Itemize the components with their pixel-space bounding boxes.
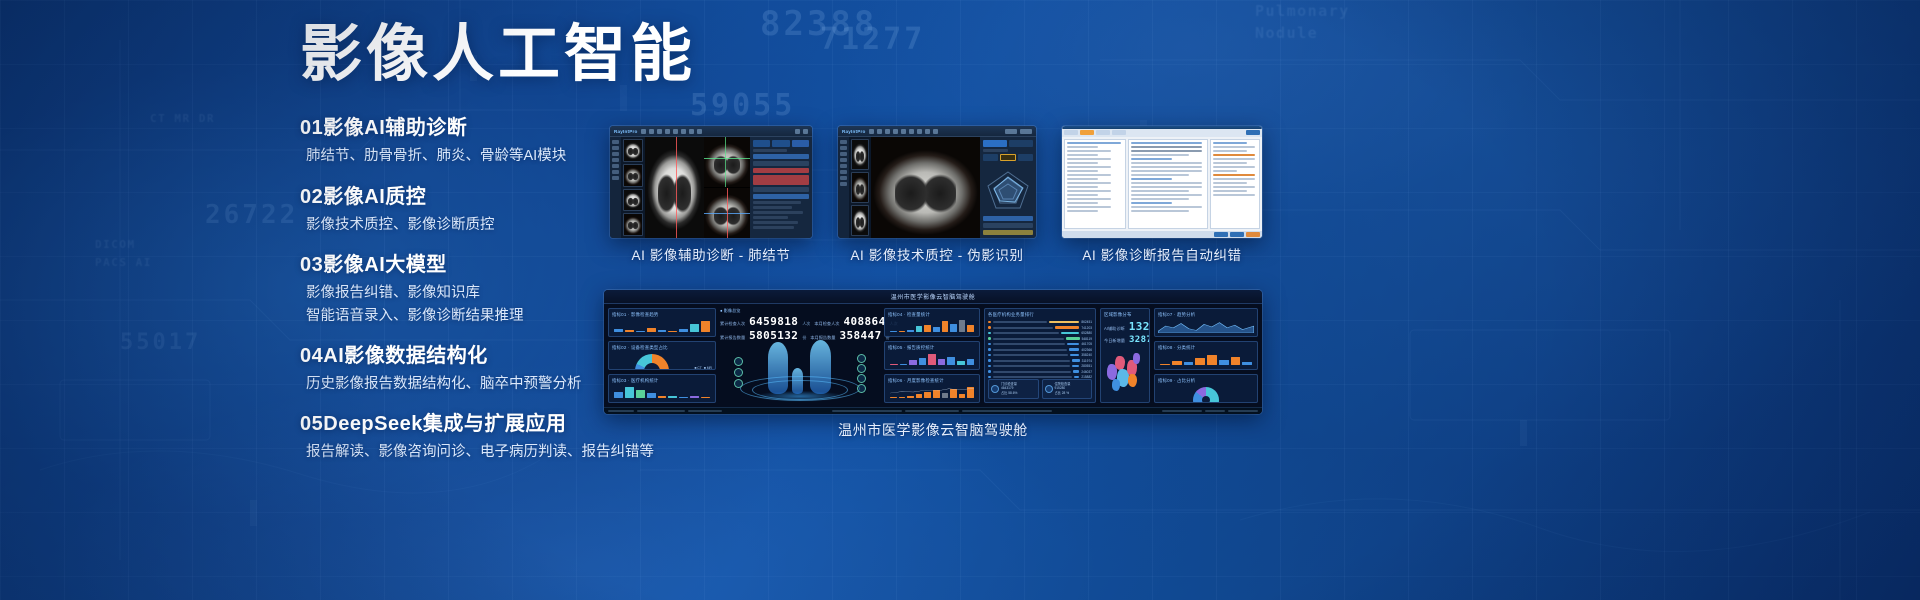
card-title: 指标01 · 影像检查趋势 [612,312,712,318]
toolbar-icon[interactable] [665,129,670,134]
toolbar-icon[interactable] [925,129,930,134]
card-title: 各医疗机构业务量排行 [988,312,1092,318]
rail-icon[interactable] [840,146,847,150]
rail-icon[interactable] [612,152,619,156]
panel-tab[interactable] [1009,140,1033,147]
bar-chart [888,320,976,333]
card-title: 指标04 · 检查量统计 [888,312,976,318]
list-item[interactable]: 862451 [988,320,1092,324]
screenshot-caption-ai-qc: AI 影像技术质控 - 伪影识别 [838,244,1036,264]
finding-row[interactable] [753,194,809,199]
list-item[interactable]: 311974 [988,359,1092,363]
dashboard-mid-column: 指标04 · 检查量统计 [884,308,980,403]
kpi-value: 13261534 [1129,320,1150,333]
left-tool-rail[interactable] [610,137,621,238]
dashboard-list-column: 各医疗机构业务量排行 862451 741203 [984,308,1096,403]
kpi-label: AI辅助诊断 [1104,326,1125,332]
bar-chart [888,353,976,366]
logout-icon[interactable] [1020,129,1032,134]
page-title: 影像人工智能 [300,22,770,87]
toolbar-icon[interactable] [909,129,914,134]
pod-sub: 占比 58.6% [1001,391,1017,395]
body-part-hotspot[interactable] [857,364,866,373]
kpi-label: 今日新增量 [1104,338,1125,344]
toolbar-icon[interactable] [877,129,882,134]
card-monthly[interactable]: 指标06 · 月度影像检查统计 [884,374,980,403]
inpatient-icon [1045,385,1053,393]
screenshot-imaging-cloud-dashboard[interactable]: 温州市医学影像云智脑驾驶舱 指标01 · 影像检查趋势 [604,290,1262,414]
rail-icon[interactable] [612,140,619,144]
area-chart [1158,320,1254,333]
background-word-2: Nodule [1255,24,1318,42]
card-title: 指标07 · 趋势分析 [1158,312,1254,318]
finding-row-alert[interactable] [753,168,809,173]
list-item[interactable]: 652880 [988,331,1092,335]
app-brand-label: RayIntPro [614,129,638,134]
ct-viewport-main[interactable] [871,137,980,238]
kpi-label: 本月检查人次 [814,321,839,327]
dashboard-header: 温州市医学影像云智脑驾驶舱 [604,290,1262,304]
panel-tab-active[interactable] [983,140,1007,147]
stat-pod-group: 门诊检查量 4643179 占比 58.6% 住院检查量 915280 [988,379,1092,399]
series-thumbnail[interactable] [851,205,869,236]
card-exam-trend[interactable]: 指标01 · 影像检查趋势 [608,308,716,337]
qc-result-row-warn[interactable] [983,230,1033,235]
bar-chart [612,320,712,333]
card-report-quality[interactable]: 指标05 · 报告质控统计 [884,341,980,370]
rail-icon[interactable] [840,170,847,174]
ai-findings-panel[interactable] [750,137,812,238]
left-tool-rail[interactable] [838,137,849,238]
tab[interactable] [1096,130,1110,135]
body-part-hotspot[interactable] [857,384,866,393]
app-brand-label: RayIntPro [842,129,866,134]
dashboard-footer [604,407,1262,414]
series-thumbnail-strip[interactable] [849,137,871,238]
close-icon[interactable] [803,129,808,134]
region-map[interactable] [1104,346,1146,399]
dashboard-right-column: 指标07 · 趋势分析 指标08 · 分类统计 [1154,308,1258,403]
kpi-value: 358447 [839,329,881,342]
rail-icon[interactable] [840,158,847,162]
list-item[interactable]: 280551 [988,364,1092,368]
score-button-selected[interactable] [1000,154,1017,161]
rail-icon[interactable] [840,164,847,168]
ct-viewport-sagittal[interactable] [704,188,750,238]
card-bar-right[interactable]: 指标08 · 分类统计 [1154,341,1258,370]
kpi-block: ● 影像总览 累计检查人次 6459818 人次 本月检查人次 408864 人… [720,308,880,343]
series-thumbnail[interactable] [851,172,869,203]
toolbar-icon[interactable] [657,129,662,134]
bar-chart [612,386,712,399]
qc-result-row[interactable] [983,223,1033,228]
stat-pod[interactable]: 门诊检查量 4643179 占比 58.6% [988,379,1039,399]
card-hospital-rank[interactable]: 指标03 · 医疗机构统计 [608,374,716,403]
series-thumbnail-strip[interactable] [621,137,645,238]
rail-icon[interactable] [840,182,847,186]
body-part-hotspot[interactable] [734,357,743,366]
rail-icon[interactable] [612,170,619,174]
body-part-hotspot[interactable] [857,354,866,363]
list-item[interactable]: 741203 [988,326,1092,330]
finding-row-alert[interactable] [753,175,809,185]
stat-pod[interactable]: 住院检查量 915280 占比 28 % [1042,379,1093,399]
outpatient-icon [991,385,999,393]
background-word-3: DICOM [95,238,136,251]
screenshot-caption-dashboard: 温州市医学影像云智脑驾驶舱 [604,420,1262,440]
panel-text [983,149,1008,152]
series-thumbnail[interactable] [623,164,643,187]
toolbar-icon[interactable] [681,129,686,134]
ct-viewport-axial[interactable] [645,137,704,238]
card-institution-list[interactable]: 各医疗机构业务量排行 862451 741203 [984,308,1096,403]
kpi-value: 5805132 [749,329,798,342]
screenshot-caption-ai-diagnosis: AI 影像辅助诊断 - 肺结节 [610,244,812,264]
screenshot-report-autocorrect[interactable] [1062,126,1262,238]
panel-text [753,216,788,219]
card-title: 指标05 · 报告质控统计 [888,345,976,351]
card-title: 指标08 · 分类统计 [1158,345,1254,351]
donut-chart [1193,387,1219,403]
qc-score-panel[interactable] [980,137,1036,238]
background-number-2: 71277 [820,22,925,57]
list-item[interactable]: 402366 [988,348,1092,352]
card-spark[interactable]: 指标07 · 趋势分析 [1154,308,1258,337]
series-thumbnail[interactable] [623,189,643,212]
dashboard-map-column: 区域影像分布 AI辅助诊断 13261534 次 今日新增量 3287 次 [1100,308,1150,403]
pod-sub: 占比 28 % [1055,391,1070,395]
card-ai-usage[interactable]: 指标04 · 检查量统计 [884,308,980,337]
ai-imaging-banner: 82388 71277 59055 26722 55017 Pulmonary … [0,0,1920,600]
kpi-unit: 人次 [802,321,810,327]
score-button[interactable] [983,154,998,161]
card-region-map[interactable]: 区域影像分布 AI辅助诊断 13261534 次 今日新增量 3287 次 [1100,308,1150,403]
background-number-1: 82388 [760,4,877,44]
dashboard-header-title: 温州市医学影像云智脑驾驶舱 [891,292,976,301]
worklist-tree-pane[interactable] [1064,139,1126,230]
ct-viewport-coronal[interactable] [704,137,750,188]
kpi-unit: 份 [802,335,806,341]
pod-value: 4643179 [1001,386,1013,390]
rail-icon[interactable] [840,176,847,180]
bar-chart [888,386,976,399]
list-item[interactable]: 246037 [988,370,1092,374]
user-menu-icon[interactable] [1005,129,1017,134]
panel-tab-active[interactable] [792,140,809,147]
screenshot-caption-report-autocorrect: AI 影像诊断报告自动纠错 [1060,244,1264,264]
card-title: 指标03 · 医疗机构统计 [612,378,712,384]
toolbar-icon[interactable] [673,129,678,134]
body-part-hotspot[interactable] [857,374,866,383]
chart-legend: ■ CT ■ MR ■ DR ■ US [694,366,712,370]
kpi-label: 累计报告数量 [720,335,745,341]
series-thumbnail[interactable] [851,139,869,170]
feature-description: 报告解读、影像咨询问诊、电子病历判读、报告纠错等 [300,441,770,463]
background-number-4: 26722 [205,200,298,230]
rail-icon[interactable] [612,158,619,162]
panel-text [753,226,794,229]
tab-strip[interactable] [1062,129,1262,137]
panel-text [753,211,803,214]
pod-value: 915280 [1055,386,1066,390]
panel-tab[interactable] [753,140,770,147]
kpi-value: 6459818 [749,315,798,328]
panel-text [753,221,798,224]
qc-result-row[interactable] [983,216,1033,221]
bar-chart [1158,353,1254,366]
tab-selected[interactable] [1246,130,1260,135]
pod-label: 门诊检查量 [1001,382,1017,386]
toolbar-icon[interactable] [917,129,922,134]
background-word-1: Pulmonary [1255,2,1350,20]
finding-row[interactable] [753,161,809,166]
tab[interactable] [1064,130,1078,135]
toolbar-icon[interactable] [689,129,694,134]
save-button[interactable] [1214,232,1228,237]
report-action-bar[interactable] [1062,231,1262,238]
panel-text [753,201,801,204]
toolbar-icon[interactable] [893,129,898,134]
screenshot-ai-diagnosis[interactable]: RayIntPro [610,126,812,238]
toolbar-icon[interactable] [869,129,874,134]
background-number-5: 55017 [120,330,201,355]
correct-button[interactable] [1246,232,1260,237]
human-body-visual [720,347,880,403]
rail-icon[interactable] [612,164,619,168]
rail-icon[interactable] [612,176,619,180]
settings-icon[interactable] [795,129,800,134]
dashboard-center-column: ● 影像总览 累计检查人次 6459818 人次 本月检查人次 408864 人… [720,308,880,403]
rail-icon[interactable] [840,140,847,144]
finding-row[interactable] [753,187,809,192]
submit-button[interactable] [1230,232,1244,237]
card-modality-dist[interactable]: 指标02 · 设备检查类型占比 ■ CT ■ MR ■ DR ■ US [608,341,716,370]
panel-text [753,149,787,152]
card-donut-right[interactable]: 指标09 · 占比分析 [1154,374,1258,403]
card-title: 指标02 · 设备检查类型占比 [612,345,712,351]
card-title: 区域影像分布 [1104,312,1146,318]
toolbar-icon[interactable] [649,129,654,134]
list-item[interactable]: 548119 [988,337,1092,341]
rail-icon[interactable] [612,146,619,150]
series-thumbnail[interactable] [623,139,643,162]
list-item[interactable]: 461705 [988,342,1092,346]
screenshot-ai-qc[interactable]: RayIntPro [838,126,1036,238]
series-thumbnail[interactable] [623,213,643,236]
tab[interactable] [1112,130,1126,135]
app-toolbar[interactable]: RayIntPro [838,126,1036,137]
card-title: 指标09 · 占比分析 [1158,378,1254,384]
kpi-label: 累计检查人次 [720,321,745,327]
finding-row[interactable] [753,154,809,159]
panel-tab[interactable] [772,140,789,147]
pod-label: 住院检查量 [1055,382,1071,386]
app-toolbar[interactable]: RayIntPro [610,126,812,137]
ranking-list[interactable]: 862451 741203 652880 [988,320,1092,379]
donut-chart [635,354,669,370]
report-editor-pane[interactable] [1128,139,1208,230]
score-button[interactable] [1018,154,1033,161]
kpi-value: 3287 [1129,335,1150,345]
background-word-4: PACS AI [95,256,152,269]
tab-active[interactable] [1080,130,1094,135]
toolbar-icon[interactable] [641,129,646,134]
kpi-value: 408864 [843,315,885,328]
feature-description-line: 报告解读、影像咨询问诊、电子病历判读、报告纠错等 [306,441,770,463]
autocorrect-suggestion-pane[interactable] [1210,139,1260,230]
background-word-5: CT MR DR [150,112,215,125]
list-item[interactable]: 358240 [988,353,1092,357]
toolbar-icon[interactable] [901,129,906,134]
body-part-hotspot[interactable] [734,368,743,377]
toolbar-icon[interactable] [885,129,890,134]
panel-text [753,206,792,209]
rail-icon[interactable] [840,152,847,156]
qc-radar-chart [983,163,1033,214]
card-title: 指标06 · 月度影像检查统计 [888,378,976,384]
toolbar-icon[interactable] [933,129,938,134]
toolbar-icon[interactable] [697,129,702,134]
dashboard-left-column: 指标01 · 影像检查趋势 [608,308,716,403]
